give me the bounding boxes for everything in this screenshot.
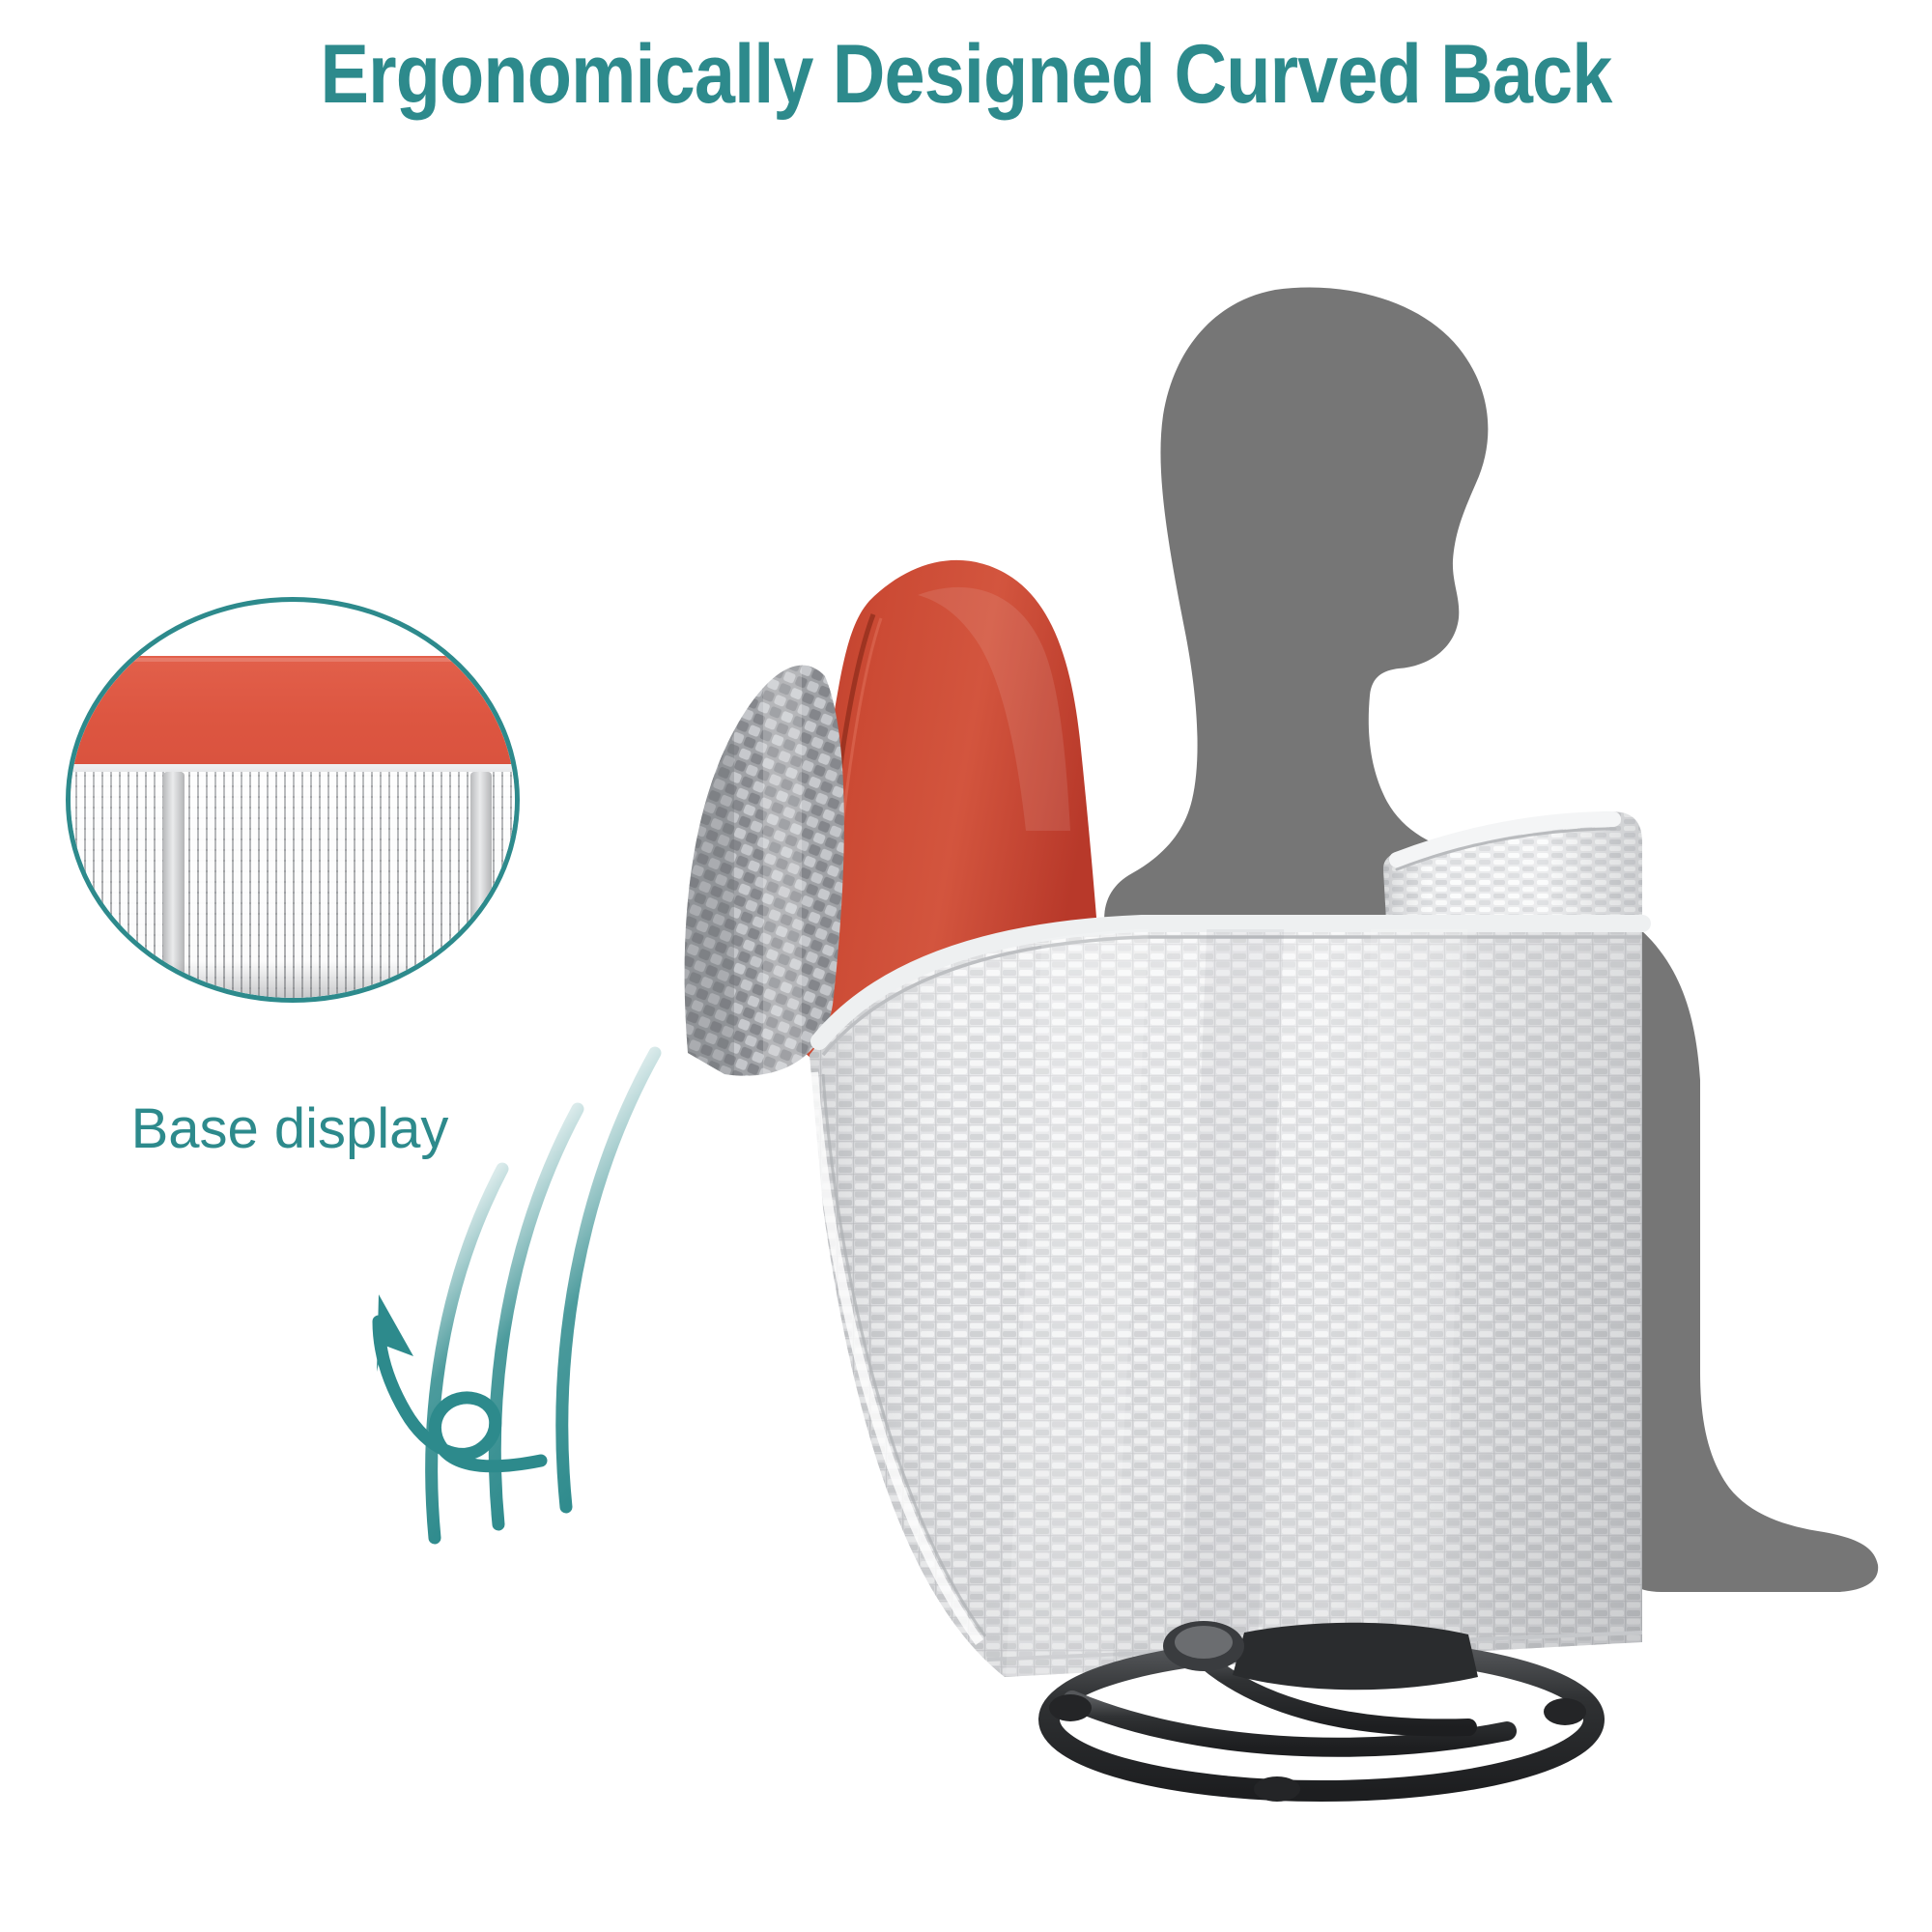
base-display-label: Base display: [0, 1096, 580, 1161]
product-feature-image: Ergonomically Designed Curved Back: [0, 0, 1932, 1932]
inset-bottom-shadow: [71, 961, 515, 998]
curly-pointer-arrow: [377, 1294, 541, 1466]
side-panel: [792, 908, 1662, 1700]
base-display-inset: [66, 597, 520, 1003]
inset-circle-border: [66, 597, 520, 1003]
